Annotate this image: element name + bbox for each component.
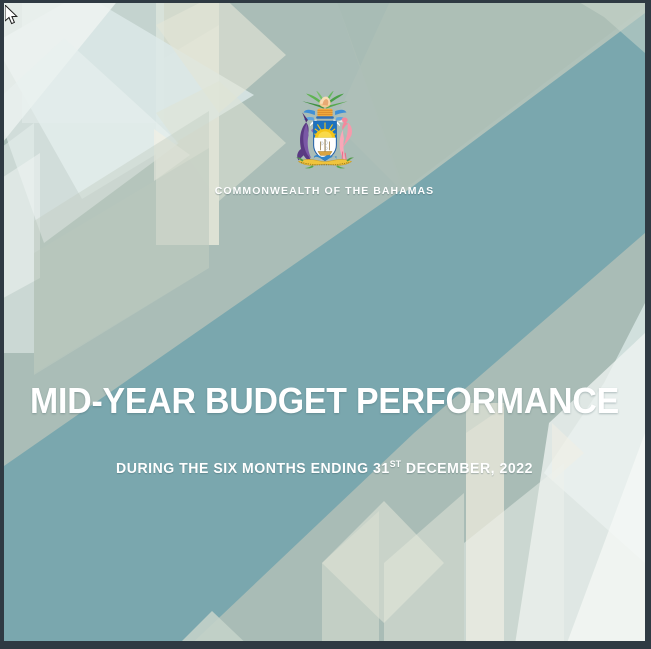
subtitle-ordinal-suffix: ST (390, 459, 402, 469)
shield-icon (313, 121, 336, 160)
document-viewer-window: COMMONWEALTH OF THE BAHAMAS MID-YEAR BUD… (0, 0, 651, 649)
page-title: MID-YEAR BUDGET PERFORMANCE (23, 379, 626, 423)
cover-content: COMMONWEALTH OF THE BAHAMAS MID-YEAR BUD… (4, 3, 645, 641)
document-cover-page: COMMONWEALTH OF THE BAHAMAS MID-YEAR BUD… (4, 3, 645, 641)
subtitle-prefix: DURING THE SIX MONTHS ENDING 31 (116, 461, 390, 477)
country-name-label: COMMONWEALTH OF THE BAHAMAS (4, 185, 645, 197)
coat-of-arms-icon (287, 91, 363, 173)
subtitle-suffix: DECEMBER, 2022 (401, 461, 533, 477)
title-block: MID-YEAR BUDGET PERFORMANCE DURING THE S… (4, 379, 645, 477)
flamingo-icon (337, 117, 351, 161)
page-subtitle: DURING THE SIX MONTHS ENDING 31ST DECEMB… (14, 459, 636, 477)
crest-block: COMMONWEALTH OF THE BAHAMAS (4, 91, 645, 197)
rising-sun-icon (314, 123, 335, 138)
helm-icon (316, 109, 334, 119)
